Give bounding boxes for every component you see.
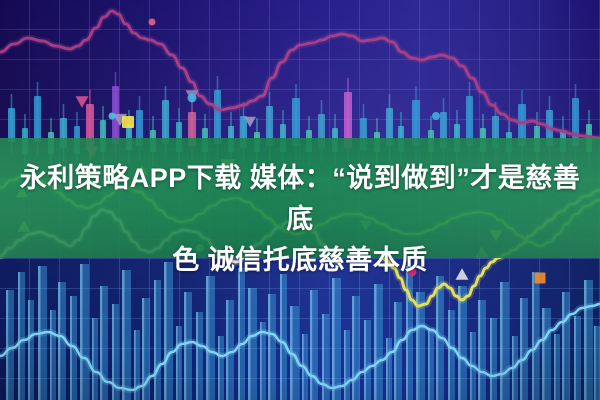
page-title: 永利策略APP下载 媒体：“说到做到”才是慈善底 色 诚信托底慈善本质	[0, 158, 600, 281]
promo-banner-image: 永利策略APP下载 媒体：“说到做到”才是慈善底 色 诚信托底慈善本质	[0, 0, 600, 400]
